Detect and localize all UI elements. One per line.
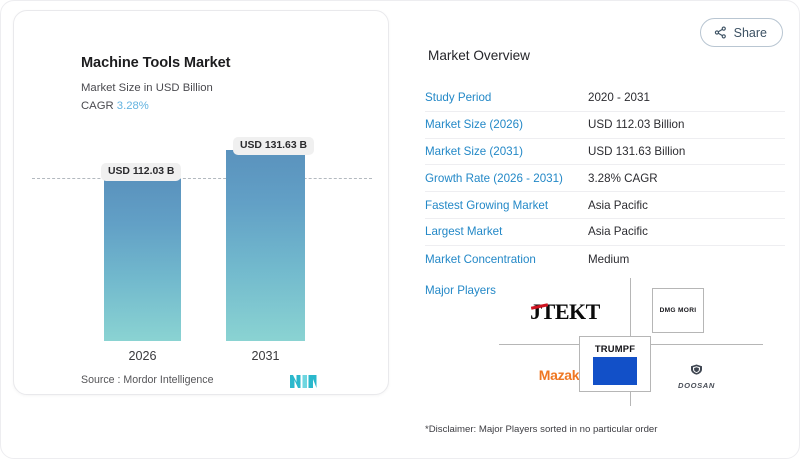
doosan-shield-icon	[690, 362, 703, 380]
share-button[interactable]: Share	[700, 18, 783, 47]
row-value-largest-market: Asia Pacific	[588, 225, 648, 238]
row-label-market-size-2031[interactable]: Market Size (2031)	[425, 145, 588, 158]
x-axis-label-2026: 2026	[104, 349, 181, 363]
table-row: Fastest Growing Market Asia Pacific	[425, 192, 785, 219]
jtekt-wordmark: JTEKT	[530, 299, 600, 325]
doosan-wordmark: DOOSAN	[678, 381, 715, 390]
player-logo-jtekt: JTEKT	[507, 294, 623, 330]
bar-value-label-2031: USD 131.63 B	[233, 137, 314, 155]
disclaimer-text: *Disclaimer: Major Players sorted in no …	[425, 424, 657, 435]
row-value-market-size-2031: USD 131.63 Billion	[588, 145, 685, 158]
mazak-wordmark: Mazak	[539, 367, 580, 383]
row-value-growth-rate: 3.28% CAGR	[588, 172, 658, 185]
table-row: Market Size (2026) USD 112.03 Billion	[425, 112, 785, 139]
row-label-growth-rate[interactable]: Growth Rate (2026 - 2031)	[425, 172, 588, 185]
row-value-market-concentration: Medium	[588, 253, 629, 266]
table-row: Growth Rate (2026 - 2031) 3.28% CAGR	[425, 165, 785, 192]
table-row: Market Size (2031) USD 131.63 Billion	[425, 139, 785, 166]
reference-dashed-line	[32, 178, 372, 179]
table-row: Market Concentration Medium	[425, 246, 785, 273]
dmg-mori-wordmark: DMG MORI	[660, 307, 697, 314]
share-button-label: Share	[734, 26, 767, 40]
bar-value-label-2026: USD 112.03 B	[101, 163, 181, 181]
row-label-study-period[interactable]: Study Period	[425, 91, 588, 104]
player-logo-doosan: DOOSAN	[659, 360, 734, 392]
chart-card: Machine Tools Market Market Size in USD …	[13, 10, 389, 395]
row-value-study-period: 2020 - 2031	[588, 91, 650, 104]
trumpf-wordmark: TRUMPF	[595, 343, 635, 354]
bar-2026[interactable]	[104, 179, 181, 341]
row-label-fastest-growing-market[interactable]: Fastest Growing Market	[425, 199, 588, 212]
trumpf-blue-square-icon	[593, 357, 637, 385]
report-snapshot-page: Share Machine Tools Market Market Size i…	[0, 0, 800, 459]
row-value-market-size-2026: USD 112.03 Billion	[588, 118, 684, 131]
table-row: Study Period 2020 - 2031	[425, 85, 785, 112]
source-text: Source : Mordor Intelligence	[81, 374, 214, 386]
share-nodes-icon	[714, 26, 727, 39]
row-value-fastest-growing-market: Asia Pacific	[588, 199, 648, 212]
x-axis-label-2031: 2031	[226, 349, 305, 363]
market-overview-title: Market Overview	[428, 48, 530, 63]
major-players-logo-grid: JTEKT DMG MORI Mazak DOOSAN	[499, 278, 763, 406]
major-players-label[interactable]: Major Players	[425, 284, 496, 297]
market-overview-table: Study Period 2020 - 2031 Market Size (20…	[425, 85, 785, 273]
bar-2031[interactable]	[226, 150, 305, 341]
row-label-market-size-2026[interactable]: Market Size (2026)	[425, 118, 588, 131]
table-row: Largest Market Asia Pacific	[425, 219, 785, 246]
bar-chart-plot: USD 112.03 B USD 131.63 B 2026 2031	[14, 11, 390, 396]
player-logo-dmg-mori: DMG MORI	[652, 288, 704, 333]
mordor-intelligence-logo	[290, 373, 317, 395]
row-label-largest-market[interactable]: Largest Market	[425, 225, 588, 238]
player-logo-trumpf: TRUMPF	[579, 336, 651, 392]
row-label-market-concentration[interactable]: Market Concentration	[425, 253, 588, 266]
